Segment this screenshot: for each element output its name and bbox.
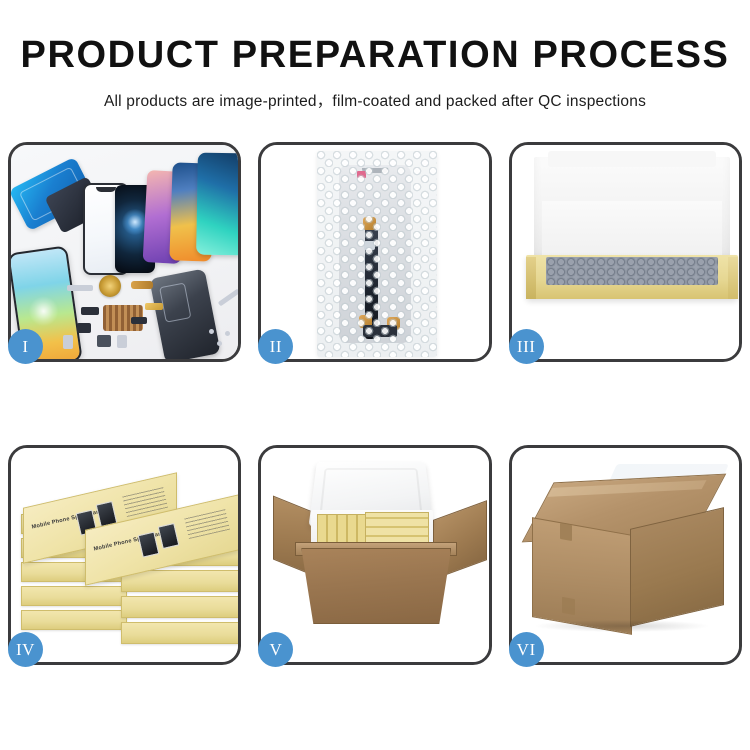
product-preparation-page: PRODUCT PREPARATION PROCESS All products… bbox=[0, 0, 750, 750]
spare-part-flex-cable bbox=[131, 281, 153, 289]
tweezers-tool bbox=[218, 289, 239, 307]
process-step-panel-6[interactable]: VI bbox=[509, 445, 742, 665]
carton-drop-shadow bbox=[536, 620, 708, 632]
step-5-image bbox=[261, 448, 488, 662]
stacked-box-r3 bbox=[121, 596, 238, 618]
process-step-panel-4[interactable]: Mobile Phone Spare Parts Mobile Phone Sp… bbox=[8, 445, 241, 665]
spare-part-screw-2 bbox=[225, 331, 230, 336]
teal-gradient-phone bbox=[196, 153, 238, 256]
step-4-image: Mobile Phone Spare Parts Mobile Phone Sp… bbox=[11, 448, 238, 662]
box-screen-image-front-2 bbox=[158, 523, 180, 549]
process-step-panel-2[interactable]: II bbox=[258, 142, 491, 362]
carton-tape-lower bbox=[562, 597, 575, 615]
yellow-tray-side-right bbox=[728, 257, 738, 299]
spare-part-bracket bbox=[117, 335, 127, 348]
spare-part-screw-1 bbox=[217, 341, 222, 346]
process-step-panel-1[interactable]: I bbox=[8, 142, 241, 362]
process-step-row-1: I bbox=[8, 142, 742, 362]
carton-side-face bbox=[630, 507, 724, 627]
step-6-image bbox=[512, 448, 739, 662]
bubble-texture bbox=[317, 151, 437, 357]
step-badge-3: III bbox=[509, 329, 544, 364]
step-badge-6: VI bbox=[509, 632, 544, 667]
process-step-panel-3[interactable]: III bbox=[509, 142, 742, 362]
stacked-box-r4 bbox=[121, 622, 238, 644]
step-badge-4: IV bbox=[8, 632, 43, 667]
process-step-grid: I bbox=[8, 142, 742, 665]
carton-front-face bbox=[532, 517, 632, 635]
box-stack: Mobile Phone Spare Parts Mobile Phone Sp… bbox=[17, 470, 238, 662]
yellow-tray-side-left bbox=[526, 257, 536, 299]
process-step-row-2: Mobile Phone Spare Parts Mobile Phone Sp… bbox=[8, 445, 742, 665]
phone-rear-chassis bbox=[149, 268, 220, 359]
bubble-wrap-bag bbox=[317, 151, 437, 357]
process-step-panel-5[interactable]: V bbox=[258, 445, 491, 665]
box-spec-lines-front bbox=[184, 508, 230, 539]
page-title: PRODUCT PREPARATION PROCESS bbox=[0, 36, 750, 76]
step-3-image bbox=[512, 145, 739, 359]
spare-part-chip-2 bbox=[77, 323, 91, 333]
carton-body bbox=[301, 548, 451, 624]
spare-part-gold-contact bbox=[145, 303, 163, 310]
spare-part-chip-3 bbox=[131, 317, 147, 324]
page-subtitle: All products are image-printed，film-coat… bbox=[0, 89, 750, 111]
stacked-box-l5 bbox=[21, 610, 127, 630]
spare-part-speaker bbox=[67, 285, 93, 291]
copper-coil-part bbox=[99, 275, 121, 297]
carton-tape-upper bbox=[560, 523, 572, 541]
page-header: PRODUCT PREPARATION PROCESS All products… bbox=[0, 0, 750, 111]
step-2-image bbox=[261, 145, 488, 359]
grey-bubble-wrapped-screens bbox=[546, 257, 718, 285]
spare-part-button bbox=[97, 335, 111, 347]
step-1-image bbox=[11, 145, 238, 359]
step-badge-1: I bbox=[8, 329, 43, 364]
spare-part-sim-tray bbox=[63, 335, 73, 349]
spare-part-chip-1 bbox=[81, 307, 99, 315]
spare-part-screw-3 bbox=[209, 329, 214, 334]
stacked-box-l4 bbox=[21, 586, 127, 606]
